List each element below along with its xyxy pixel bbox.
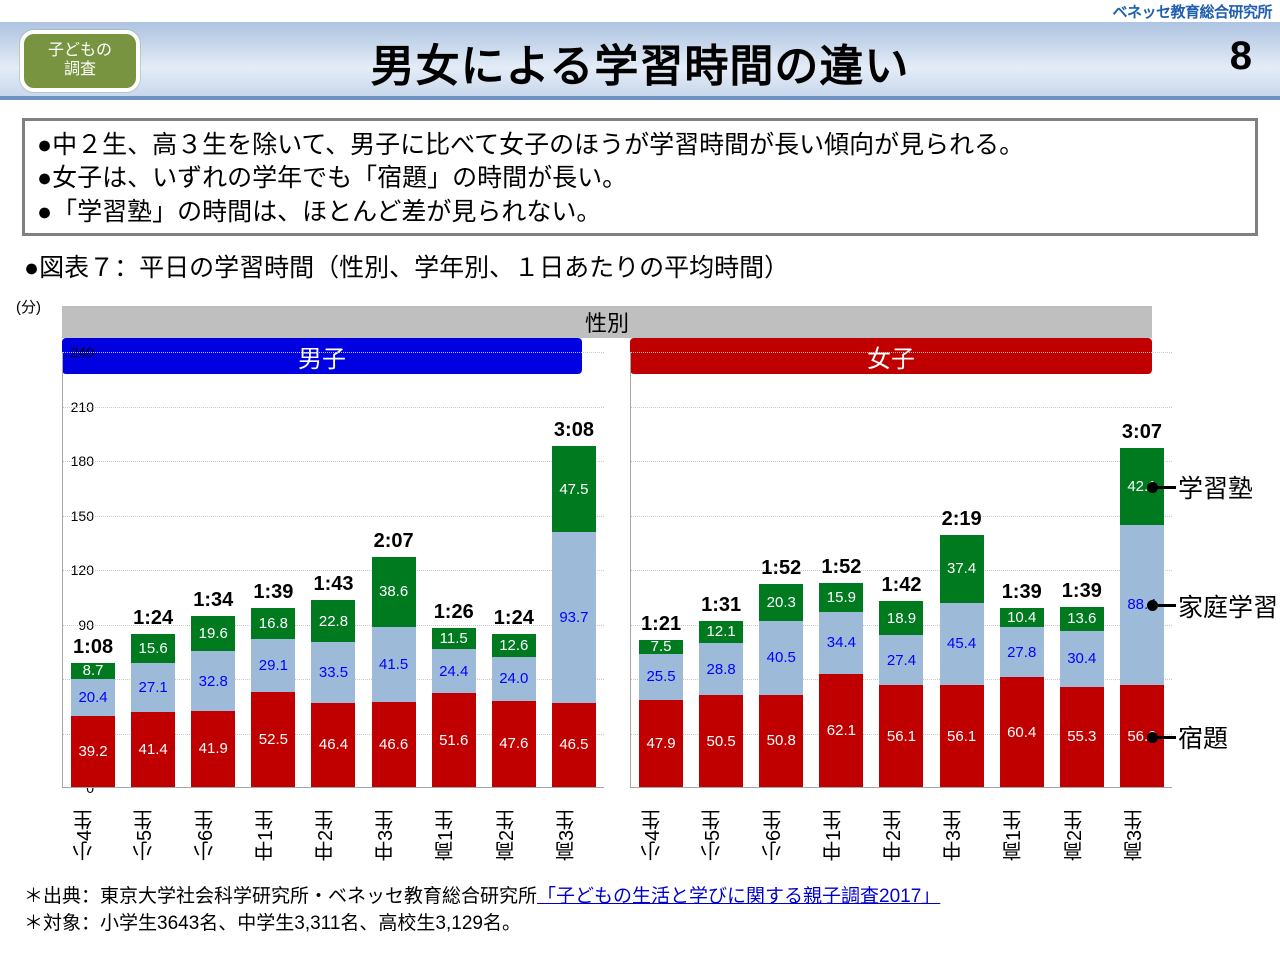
bar-group-female: 1:217.525.547.91:3112.128.850.51:5220.34… xyxy=(631,352,1172,787)
bar-segment-home: 24.4 xyxy=(432,649,476,693)
bar-segment-juku: 37.4 xyxy=(940,535,984,603)
x-axis-labels-male: 小4生小5生小6生中1生中2生中3生高1生高2生高3生 xyxy=(62,792,604,882)
bar-segment-juku: 19.6 xyxy=(191,616,235,652)
bar-segment-home: 29.1 xyxy=(251,639,295,692)
bar-segment-hw: 46.5 xyxy=(552,703,596,787)
bar-segment-home: 93.7 xyxy=(552,532,596,702)
bar-total-label: 1:26 xyxy=(434,601,474,624)
bar-stack[interactable]: 1:4218.927.456.1 xyxy=(879,352,923,787)
x-axis-tick-label: 小6生 xyxy=(759,792,803,878)
callout-dot xyxy=(1147,732,1158,743)
x-axis-tick-label: 中2生 xyxy=(879,792,923,878)
bar-stack[interactable]: 1:4322.833.546.4 xyxy=(311,352,355,787)
bar-total-label: 1:39 xyxy=(1062,580,1102,603)
plot-panel-female: 1:217.525.547.91:3112.128.850.51:5220.34… xyxy=(630,352,1172,788)
bar-total-label: 3:08 xyxy=(554,419,594,442)
callout-line xyxy=(1158,486,1176,489)
page-title: 男女による学習時間の違い xyxy=(160,28,1120,96)
x-axis-tick-label: 中2生 xyxy=(311,792,355,878)
bar-segment-hw: 60.4 xyxy=(1000,677,1044,787)
bar-segment-juku: 13.6 xyxy=(1060,607,1104,632)
category-badge-line1: 子どもの xyxy=(48,42,112,61)
bar-segment-home: 27.8 xyxy=(1000,627,1044,678)
bar-segment-home: 34.4 xyxy=(819,612,863,674)
bar-stack[interactable]: 1:217.525.547.9 xyxy=(639,352,683,787)
bar-segment-hw: 51.6 xyxy=(432,693,476,787)
summary-bullet-2: ●女子は、いずれの学年でも「宿題」の時間が長い。 xyxy=(37,162,1243,195)
bar-segment-juku: 15.6 xyxy=(131,634,175,662)
bar-total-label: 1:52 xyxy=(821,556,861,579)
bar-group-male: 1:088.720.439.21:2415.627.141.41:3419.63… xyxy=(63,352,604,787)
bar-segment-hw: 47.6 xyxy=(492,701,536,787)
bar-total-label: 1:39 xyxy=(253,581,293,604)
x-axis-tick-label: 高1生 xyxy=(431,792,475,878)
bar-segment-hw: 41.4 xyxy=(131,712,175,787)
bar-total-label: 1:08 xyxy=(73,636,113,659)
bar-total-label: 1:42 xyxy=(881,574,921,597)
bar-segment-hw: 55.3 xyxy=(1060,687,1104,787)
callout-label: 家庭学習 xyxy=(1178,588,1278,624)
bar-segment-hw: 41.9 xyxy=(191,711,235,787)
x-axis-tick-label: 高2生 xyxy=(1060,792,1104,878)
bar-segment-home: 25.5 xyxy=(639,654,683,700)
bar-stack[interactable]: 1:3916.829.152.5 xyxy=(251,352,295,787)
x-axis-tick-label: 小6生 xyxy=(191,792,235,878)
bar-segment-home: 45.4 xyxy=(940,603,984,685)
x-axis-tick-label: 中1生 xyxy=(251,792,295,878)
bar-total-label: 1:34 xyxy=(193,589,233,612)
bar-segment-home: 40.5 xyxy=(759,621,803,695)
bar-stack[interactable]: 2:1937.445.456.1 xyxy=(940,352,984,787)
bar-segment-hw: 50.8 xyxy=(759,695,803,787)
bar-segment-home: 30.4 xyxy=(1060,631,1104,686)
bar-segment-juku: 11.5 xyxy=(432,628,476,649)
group-header: 性別 xyxy=(62,306,1152,338)
summary-bullet-3: ●「学習塾」の時間は、ほとんど差が見られない。 xyxy=(37,196,1243,229)
bar-stack[interactable]: 1:3112.128.850.5 xyxy=(699,352,743,787)
callout-line xyxy=(1158,604,1176,607)
bar-segment-home: 24.0 xyxy=(492,657,536,701)
bar-total-label: 1:24 xyxy=(494,607,534,630)
bar-stack[interactable]: 1:088.720.439.2 xyxy=(71,352,115,787)
bar-total-label: 1:21 xyxy=(641,613,681,636)
bar-segment-juku: 15.9 xyxy=(819,583,863,612)
x-axis-tick-label: 高2生 xyxy=(492,792,536,878)
callout-label: 学習塾 xyxy=(1178,469,1253,505)
footnote-target: ＊対象：小学生3643名、中学生3,311名、高校生3,129名。 xyxy=(24,911,940,938)
bar-segment-hw: 47.9 xyxy=(639,700,683,787)
bar-segment-hw: 62.1 xyxy=(819,674,863,787)
bar-total-label: 1:39 xyxy=(1002,581,1042,604)
bar-stack[interactable]: 2:0738.641.546.6 xyxy=(372,352,416,787)
bar-segment-hw: 46.6 xyxy=(372,702,416,787)
bar-segment-hw: 50.5 xyxy=(699,695,743,787)
bar-segment-juku: 47.5 xyxy=(552,446,596,532)
bar-stack[interactable]: 1:5215.934.462.1 xyxy=(819,352,863,787)
bar-segment-juku: 20.3 xyxy=(759,584,803,621)
bar-total-label: 2:19 xyxy=(942,508,982,531)
brand-label: ベネッセ教育総合研究所 xyxy=(1112,1,1272,22)
bar-stack[interactable]: 1:3910.427.860.4 xyxy=(1000,352,1044,787)
bar-segment-home: 27.1 xyxy=(131,663,175,712)
x-axis-tick-label: 小5生 xyxy=(698,792,742,878)
x-axis-tick-label: 高3生 xyxy=(552,792,596,878)
slide-page: ベネッセ教育総合研究所 子どもの 調査 男女による学習時間の違い 8 ●中２生、… xyxy=(0,0,1280,960)
bar-segment-home: 27.4 xyxy=(879,635,923,685)
legend-callout: 家庭学習 xyxy=(1147,588,1278,624)
bar-segment-juku: 22.8 xyxy=(311,600,355,641)
chart: (分) 性別 男子 女子 0306090120150180210240 1:08… xyxy=(0,292,1280,892)
category-badge-line2: 調査 xyxy=(64,61,96,80)
bar-segment-home: 32.8 xyxy=(191,651,235,711)
bar-segment-juku: 7.5 xyxy=(639,640,683,654)
bar-total-label: 3:07 xyxy=(1122,421,1162,444)
footnote-source-text: ＊出典：東京大学社会科学研究所・ベネッセ教育総合研究所 xyxy=(24,886,537,907)
footnote-source: ＊出典：東京大学社会科学研究所・ベネッセ教育総合研究所「子どもの生活と学びに関す… xyxy=(24,884,940,911)
footnote-source-link[interactable]: 「子どもの生活と学びに関する親子調査2017」 xyxy=(537,886,940,907)
footnotes: ＊出典：東京大学社会科学研究所・ベネッセ教育総合研究所「子どもの生活と学びに関す… xyxy=(24,884,940,938)
x-axis-tick-label: 高1生 xyxy=(999,792,1043,878)
bar-segment-home: 41.5 xyxy=(372,627,416,702)
bar-segment-hw: 46.4 xyxy=(311,703,355,787)
legend-callout: 学習塾 xyxy=(1147,469,1253,505)
bar-segment-home: 20.4 xyxy=(71,679,115,716)
bar-segment-hw: 52.5 xyxy=(251,692,295,787)
bar-segment-juku: 18.9 xyxy=(879,601,923,635)
x-axis-tick-label: 小4生 xyxy=(638,792,682,878)
bar-segment-juku: 12.1 xyxy=(699,621,743,643)
x-axis-tick-label: 中3生 xyxy=(939,792,983,878)
bar-segment-juku: 8.7 xyxy=(71,663,115,679)
x-axis-tick-label: 中3生 xyxy=(371,792,415,878)
page-number: 8 xyxy=(1230,34,1252,79)
bar-total-label: 1:43 xyxy=(313,573,353,596)
x-axis-tick-label: 高3生 xyxy=(1120,792,1164,878)
bar-segment-hw: 56.1 xyxy=(879,685,923,787)
x-axis-tick-label: 中1生 xyxy=(819,792,863,878)
x-axis-tick-label: 小5生 xyxy=(130,792,174,878)
summary-bullet-1: ●中２生、高３生を除いて、男子に比べて女子のほうが学習時間が長い傾向が見られる。 xyxy=(37,129,1243,162)
bar-segment-home: 33.5 xyxy=(311,642,355,703)
figure-caption: ●図表７：平日の学習時間（性別、学年別、１日あたりの平均時間） xyxy=(24,248,789,284)
bar-segment-home: 28.8 xyxy=(699,643,743,695)
bar-total-label: 1:24 xyxy=(133,607,173,630)
callout-line xyxy=(1158,736,1176,739)
callout-dot xyxy=(1147,482,1158,493)
category-badge: 子どもの 調査 xyxy=(20,30,140,92)
bar-stack[interactable]: 1:2415.627.141.4 xyxy=(131,352,175,787)
bar-total-label: 2:07 xyxy=(374,530,414,553)
bar-total-label: 1:52 xyxy=(761,557,801,580)
bar-stack[interactable]: 1:2412.624.047.6 xyxy=(492,352,536,787)
bar-segment-juku: 38.6 xyxy=(372,557,416,627)
bar-stack[interactable]: 1:2611.524.451.6 xyxy=(432,352,476,787)
bar-segment-juku: 12.6 xyxy=(492,634,536,657)
bar-stack[interactable]: 1:3913.630.455.3 xyxy=(1060,352,1104,787)
plot-panel-male: 1:088.720.439.21:2415.627.141.41:3419.63… xyxy=(62,352,604,788)
bar-segment-hw: 39.2 xyxy=(71,716,115,787)
summary-box: ●中２生、高３生を除いて、男子に比べて女子のほうが学習時間が長い傾向が見られる。… xyxy=(22,118,1258,236)
bar-segment-juku: 10.4 xyxy=(1000,608,1044,627)
axis-unit-label: (分) xyxy=(16,296,41,317)
bar-total-label: 1:31 xyxy=(701,594,741,617)
callout-label: 宿題 xyxy=(1178,719,1228,755)
legend-callout: 宿題 xyxy=(1147,719,1228,755)
bar-segment-juku: 16.8 xyxy=(251,608,295,639)
callout-dot xyxy=(1147,600,1158,611)
bar-stack[interactable]: 1:3419.632.841.9 xyxy=(191,352,235,787)
bar-segment-hw: 56.1 xyxy=(940,685,984,787)
bar-stack[interactable]: 1:5220.340.550.8 xyxy=(759,352,803,787)
x-axis-tick-label: 小4生 xyxy=(70,792,114,878)
bar-stack[interactable]: 3:0847.593.746.5 xyxy=(552,352,596,787)
x-axis-labels-female: 小4生小5生小6生中1生中2生中3生高1生高2生高3生 xyxy=(630,792,1172,882)
